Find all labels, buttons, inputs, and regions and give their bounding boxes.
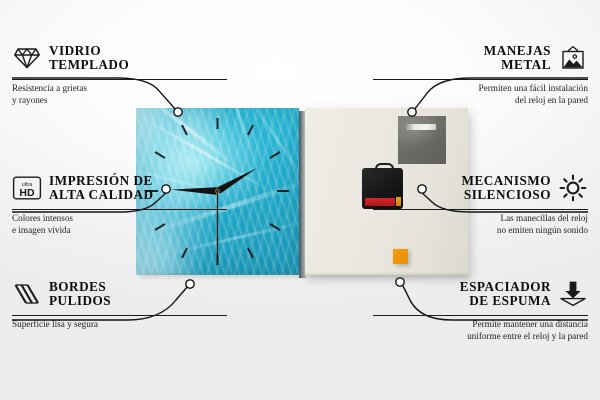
feature-mecanismo-silencioso: MECANISMO SILENCIOSO Las manecillas del … <box>373 168 588 236</box>
feature-desc: Permite mantener una distancia uniforme … <box>373 319 588 342</box>
foam-spacer-arrow-icon <box>558 279 588 309</box>
feature-desc: Las manecillas del reloj no emiten ningú… <box>373 213 588 236</box>
feature-desc: Permiten una fácil instalación del reloj… <box>373 83 588 106</box>
feature-vidrio-templado: VIDRIO TEMPLADO Resistencia a grietas y … <box>12 38 227 106</box>
feature-bordes-pulidos: BORDES PULIDOS Superficie lisa y segura <box>12 274 227 331</box>
orange-foam-spacer <box>393 249 408 264</box>
feature-title: IMPRESIÓN DE ALTA CALIDAD <box>49 174 154 202</box>
feature-title: MANEJAS METAL <box>484 44 551 72</box>
wall-frame-hook-icon <box>558 43 588 73</box>
feature-desc: Colores intensos e imagen vívida <box>12 213 227 236</box>
ultra-hd-icon: ultra HD <box>12 173 42 203</box>
feature-impresion-alta-calidad: ultra HD IMPRESIÓN DE ALTA CALIDAD Color… <box>12 168 227 236</box>
feature-divider <box>373 79 588 80</box>
diamond-icon <box>12 43 42 73</box>
feature-desc: Superficie lisa y segura <box>12 319 227 331</box>
svg-text:HD: HD <box>19 187 35 199</box>
feature-title: MECANISMO SILENCIOSO <box>462 174 552 202</box>
feature-title: VIDRIO TEMPLADO <box>49 44 129 72</box>
hanger-slot <box>406 124 436 130</box>
feature-desc: Resistencia a grietas y rayones <box>12 83 227 106</box>
polished-edges-icon <box>12 279 42 309</box>
feature-espaciador-espuma: ESPACIADOR DE ESPUMA Permite mantener un… <box>373 274 588 342</box>
infographic-canvas: VIDRIO TEMPLADO Resistencia a grietas y … <box>0 0 600 400</box>
feature-divider <box>12 315 227 316</box>
feature-divider <box>12 209 227 210</box>
feature-divider <box>373 315 588 316</box>
feature-divider <box>373 209 588 210</box>
feature-title: ESPACIADOR DE ESPUMA <box>460 280 551 308</box>
feature-divider <box>12 79 227 80</box>
feature-title: BORDES PULIDOS <box>49 280 111 308</box>
feature-manejas-metal: MANEJAS METAL Permiten una fácil instala… <box>373 38 588 106</box>
gear-icon <box>558 173 588 203</box>
metal-hanger-plate <box>398 116 446 164</box>
